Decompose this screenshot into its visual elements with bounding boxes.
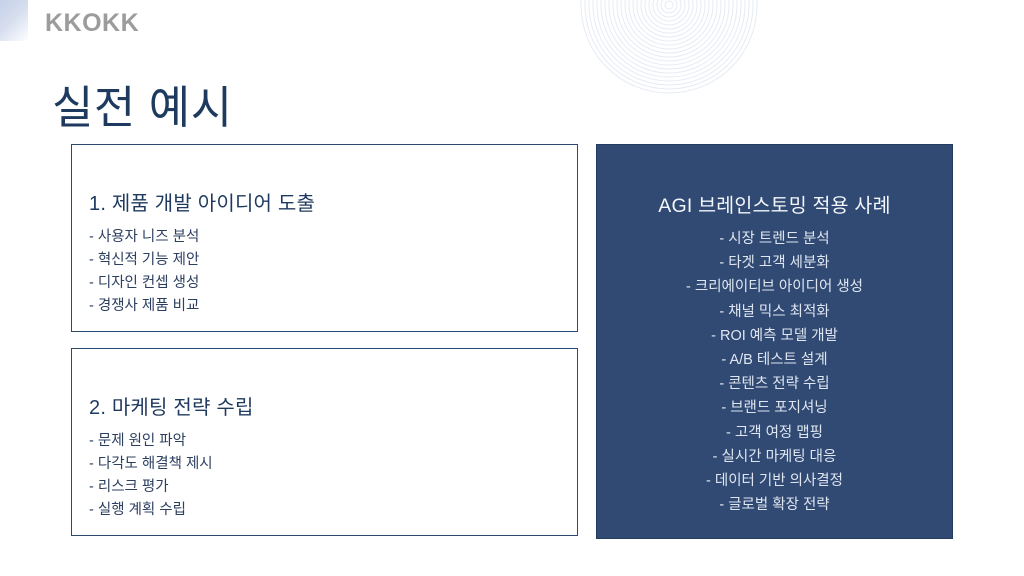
list-item: - 혁신적 기능 제안 [89, 249, 199, 272]
panel-heading: AGI 브레인스토밍 적용 사례 [597, 189, 952, 218]
list-item: - 타겟 고객 세분화 [597, 251, 952, 275]
list-item: - 고객 여정 맵핑 [597, 421, 952, 445]
list-item: - A/B 테스트 설계 [597, 348, 952, 372]
concentric-rings-icon [578, 0, 760, 96]
content-card-2: 2. 마케팅 전략 수립 - 문제 원인 파악 - 다각도 해결책 제시 - 리… [71, 348, 578, 536]
slide-canvas: KKOKK 실전 예시 1. 제품 개발 아이디어 도출 - 사용자 니즈 분석… [0, 0, 1024, 576]
page-title: 실전 예시 [52, 79, 233, 137]
list-item: - 다각도 해결책 제시 [89, 453, 213, 476]
card-2-heading: 2. 마케팅 전략 수립 [89, 391, 254, 420]
card-1-bullet-list: - 사용자 니즈 분석 - 혁신적 기능 제안 - 디자인 컨셉 생성 - 경쟁… [89, 226, 199, 318]
gradient-corner-icon [0, 0, 28, 41]
card-1-heading: 1. 제품 개발 아이디어 도출 [89, 187, 315, 216]
list-item: - 브랜드 포지셔닝 [597, 396, 952, 420]
content-card-1: 1. 제품 개발 아이디어 도출 - 사용자 니즈 분석 - 혁신적 기능 제안… [71, 144, 578, 332]
list-item: - 사용자 니즈 분석 [89, 226, 199, 249]
list-item: - 크리에이티브 아이디어 생성 [597, 275, 952, 299]
list-item: - 실행 계획 수립 [89, 499, 213, 522]
list-item: - 콘텐츠 전략 수립 [597, 372, 952, 396]
list-item: - 문제 원인 파악 [89, 430, 213, 453]
list-item: - 글로벌 확장 전략 [597, 493, 952, 517]
list-item: - 채널 믹스 최적화 [597, 300, 952, 324]
list-item: - 실시간 마케팅 대응 [597, 445, 952, 469]
list-item: - 데이터 기반 의사결정 [597, 469, 952, 493]
card-2-bullet-list: - 문제 원인 파악 - 다각도 해결책 제시 - 리스크 평가 - 실행 계획… [89, 430, 213, 522]
list-item: - 경쟁사 제품 비교 [89, 295, 199, 318]
list-item: - 시장 트렌드 분석 [597, 227, 952, 251]
list-item: - 리스크 평가 [89, 476, 213, 499]
agi-use-case-panel: AGI 브레인스토밍 적용 사례 - 시장 트렌드 분석 - 타겟 고객 세분화… [596, 144, 953, 539]
panel-bullet-list: - 시장 트렌드 분석 - 타겟 고객 세분화 - 크리에이티브 아이디어 생성… [597, 227, 952, 517]
list-item: - ROI 예측 모델 개발 [597, 324, 952, 348]
brand-logo: KKOKK [45, 8, 139, 38]
list-item: - 디자인 컨셉 생성 [89, 272, 199, 295]
